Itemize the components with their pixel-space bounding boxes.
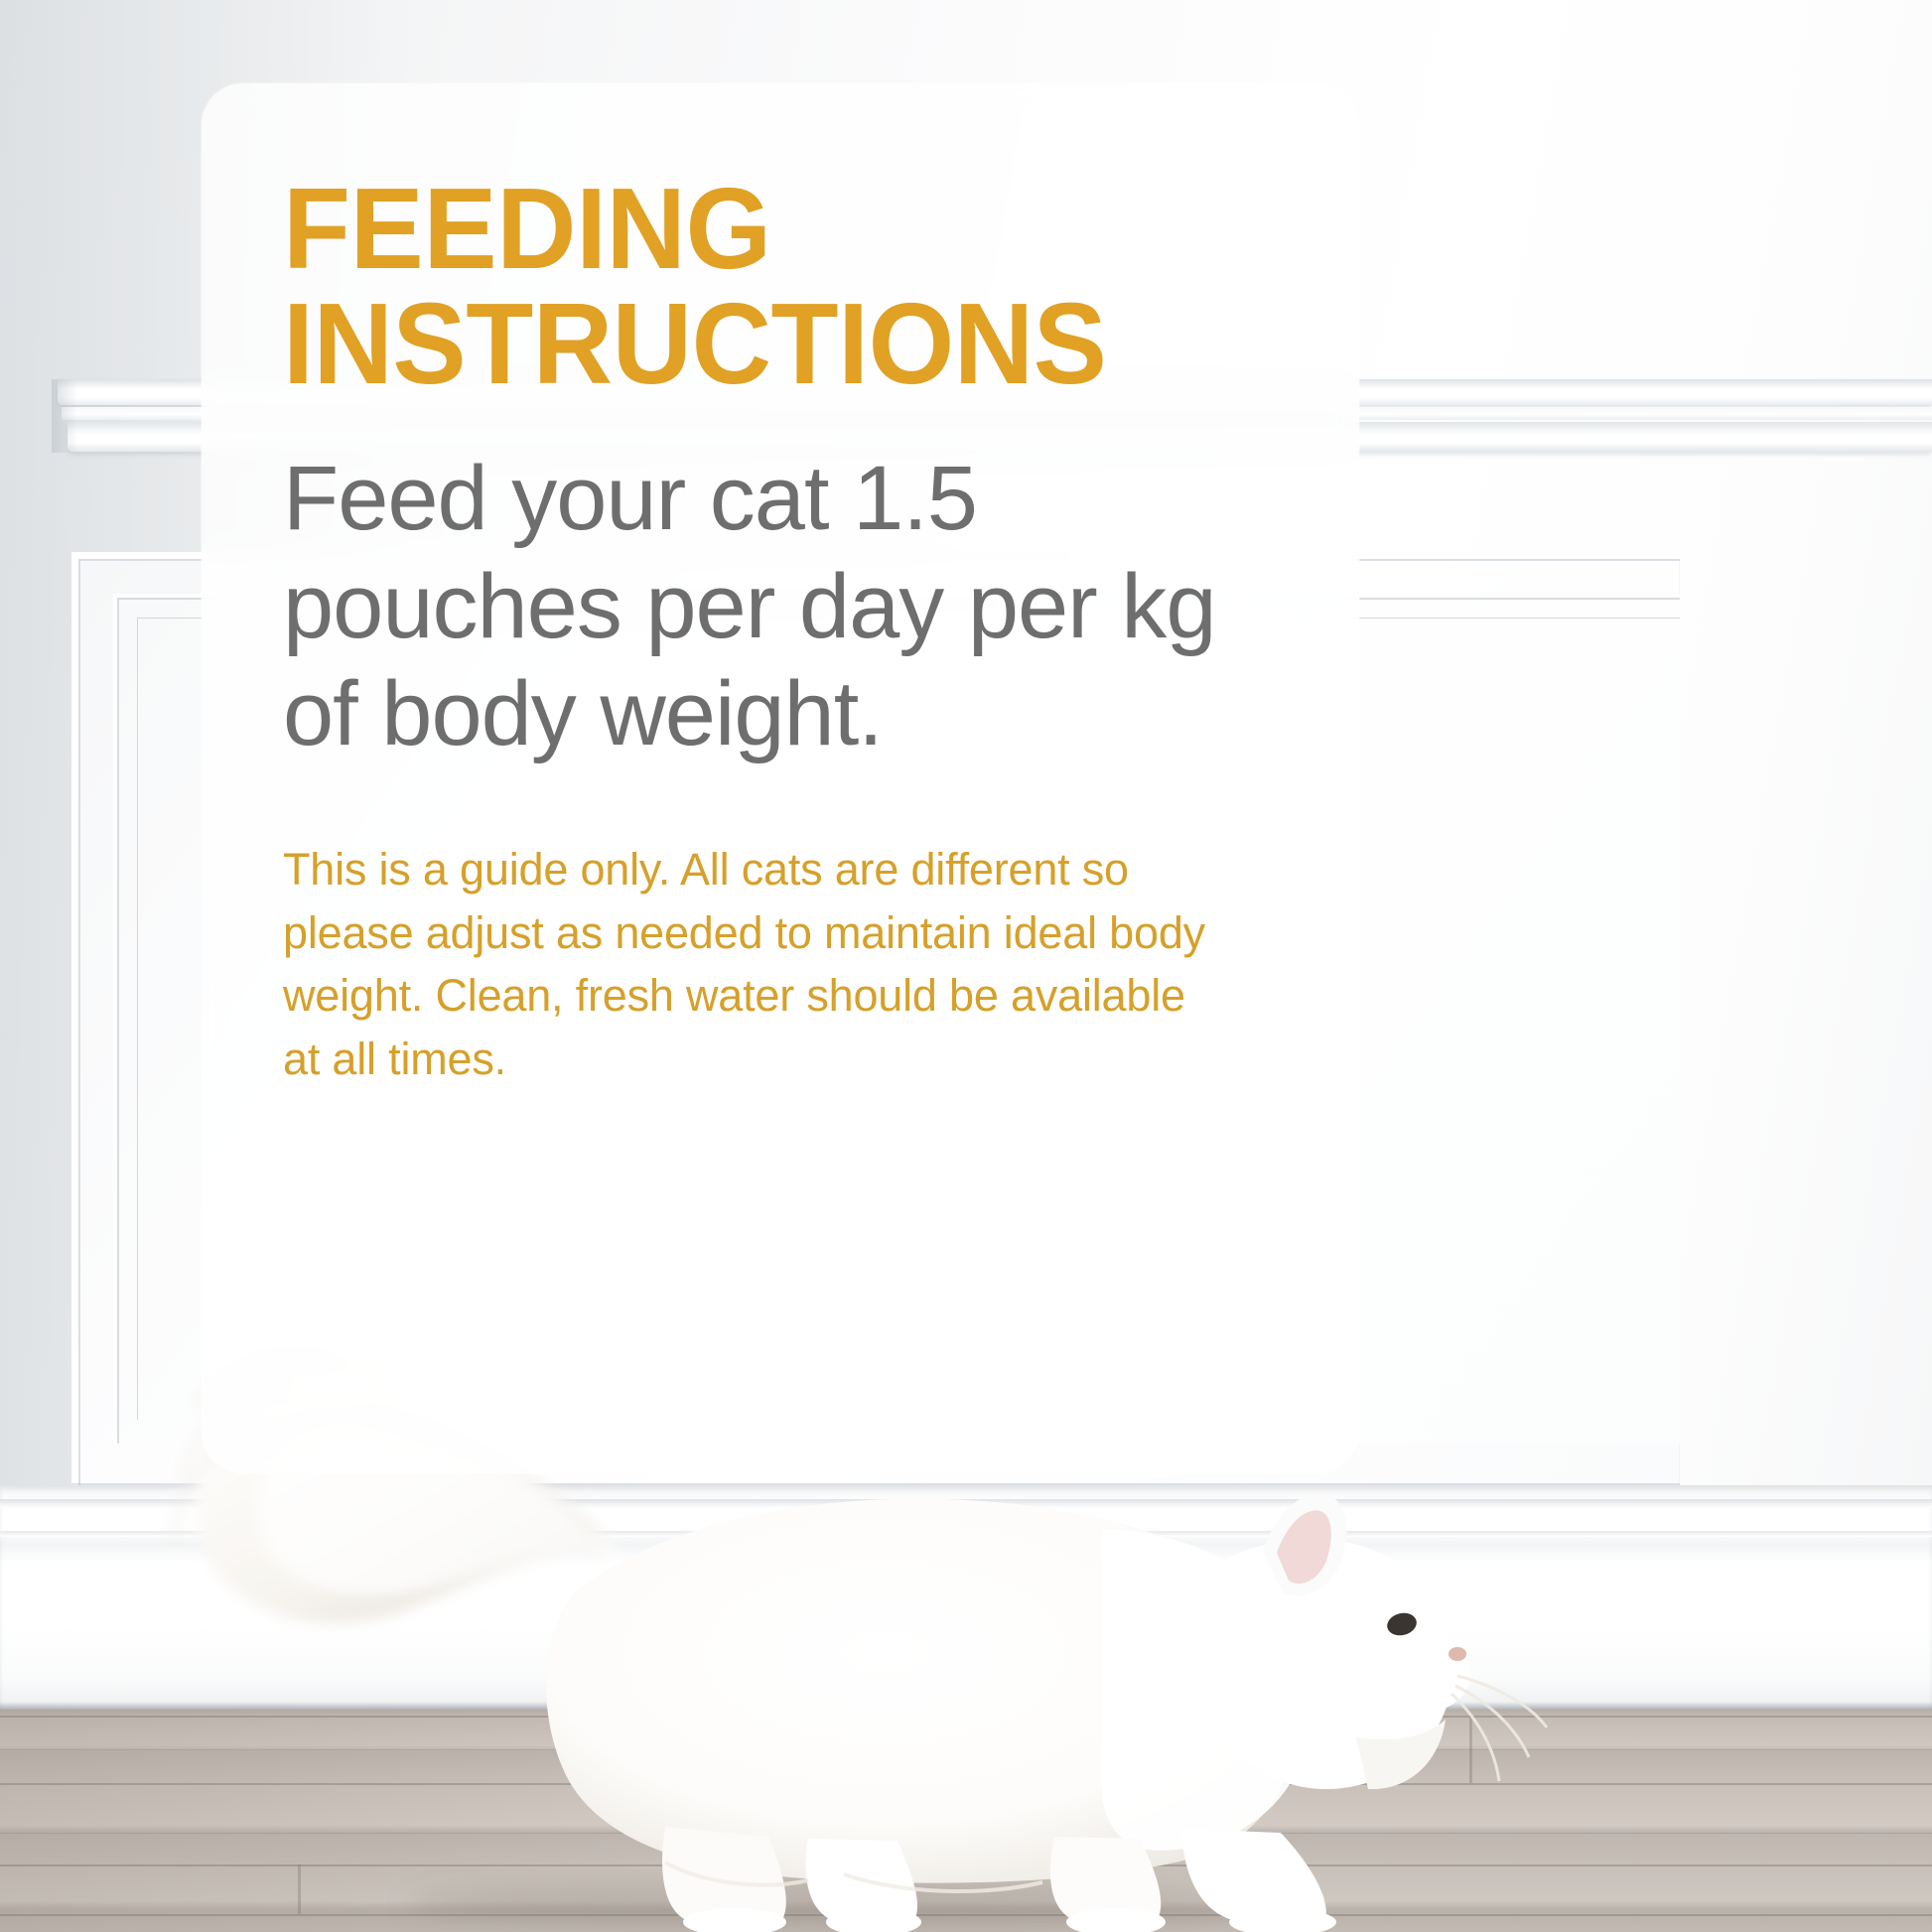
feeding-disclaimer-text: This is a guide only. All cats are diffe… [283, 838, 1206, 1092]
feeding-instructions-card: FEEDING INSTRUCTIONS Feed your cat 1.5 p… [202, 83, 1359, 1473]
card-content: FEEDING INSTRUCTIONS Feed your cat 1.5 p… [283, 171, 1264, 1091]
page-title: FEEDING INSTRUCTIONS [283, 171, 1224, 401]
feeding-instructions-graphic: FEEDING INSTRUCTIONS Feed your cat 1.5 p… [0, 0, 1932, 1932]
feeding-amount-text: Feed your cat 1.5 pouches per day per kg… [283, 445, 1256, 768]
wood-floor [0, 1710, 1932, 1932]
baseboard-moulding [0, 1485, 1932, 1712]
